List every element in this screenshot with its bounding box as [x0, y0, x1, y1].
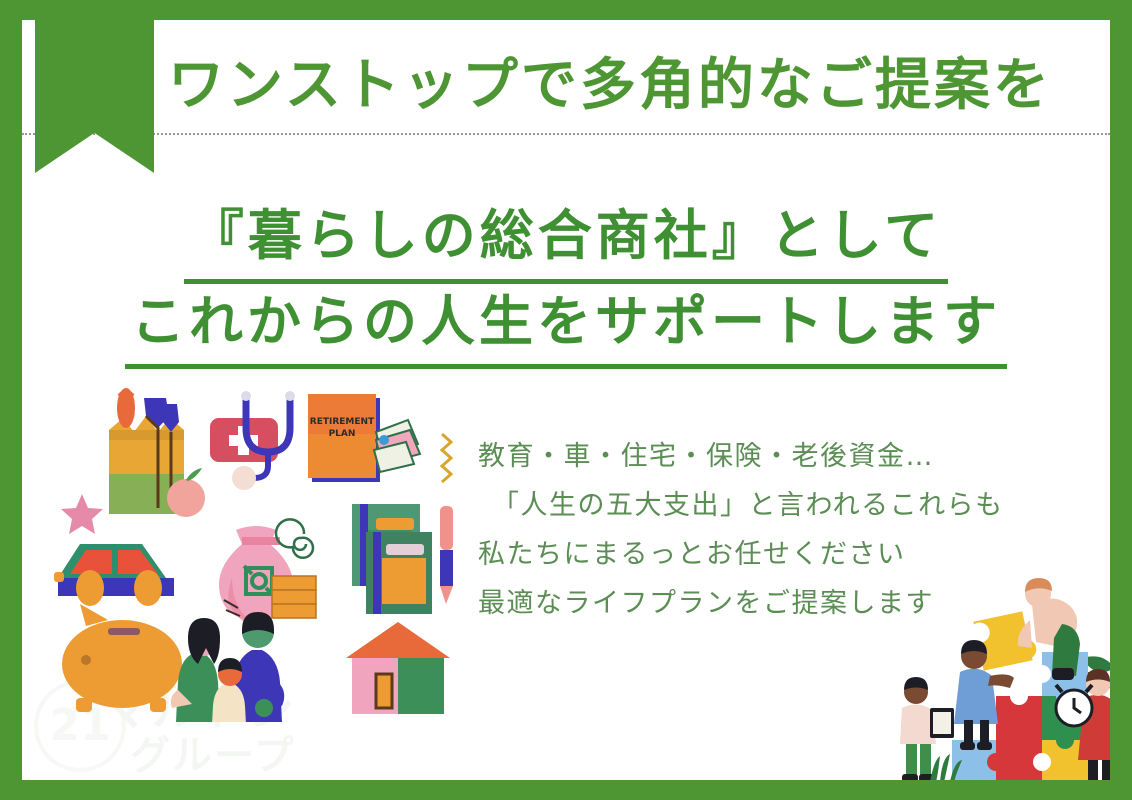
svg-text:PLAN: PLAN — [329, 429, 356, 439]
family-icon — [171, 612, 284, 722]
headline-line-1: 『暮らしの総合商社』として — [184, 198, 948, 284]
headline-line-2: これからの人生をサポートします — [125, 284, 1007, 370]
headline-line-2-wrap: これからの人生をサポートします — [22, 284, 1110, 370]
svg-text:RETIREMENT: RETIREMENT — [310, 417, 375, 427]
header-title: ワンストップで多角的なご提案を — [168, 56, 1098, 116]
star-icon — [61, 494, 103, 534]
clipboard-icon — [930, 708, 954, 738]
books-icon — [352, 504, 432, 614]
section-number-ribbon — [35, 20, 154, 173]
piggy-bank-icon — [62, 604, 182, 712]
body-line-4: 最適なライフプランをご提案します — [478, 579, 1098, 628]
car-icon — [54, 544, 174, 606]
coins-icon — [272, 576, 316, 618]
headline-line-1-wrap: 『暮らしの総合商社』として — [22, 198, 1110, 284]
body-line-1: 教育・車・住宅・保険・老後資金… — [478, 432, 1098, 481]
squiggle-icon — [442, 434, 451, 482]
header-divider — [22, 133, 1110, 135]
house-icon — [346, 622, 450, 714]
body-line-2: 「人生の五大支出」と言われるこれらも — [478, 481, 1098, 530]
spiral-icon — [276, 519, 313, 557]
watermark-line2: グループ — [130, 734, 296, 779]
retirement-plan-book-icon: RETIREMENT PLAN — [308, 394, 420, 482]
life-expenses-icon-cluster: RETIREMENT PLAN — [46, 382, 476, 722]
body-copy: 教育・車・住宅・保険・老後資金… 「人生の五大支出」と言われるこれらも 私たちに… — [478, 432, 1098, 629]
pen-icon — [440, 506, 453, 604]
slide-root: 21 マルトシ グループ 06 ワンストップで多角的なご提案を 『暮らしの総合商… — [0, 0, 1132, 800]
slide-canvas: 21 マルトシ グループ 06 ワンストップで多角的なご提案を 『暮らしの総合商… — [22, 20, 1110, 780]
headline-block: 『暮らしの総合商社』として これからの人生をサポートします — [22, 198, 1110, 369]
alarm-clock-icon — [1056, 685, 1092, 726]
body-line-3: 私たちにまるっとお任せください — [478, 530, 1098, 579]
